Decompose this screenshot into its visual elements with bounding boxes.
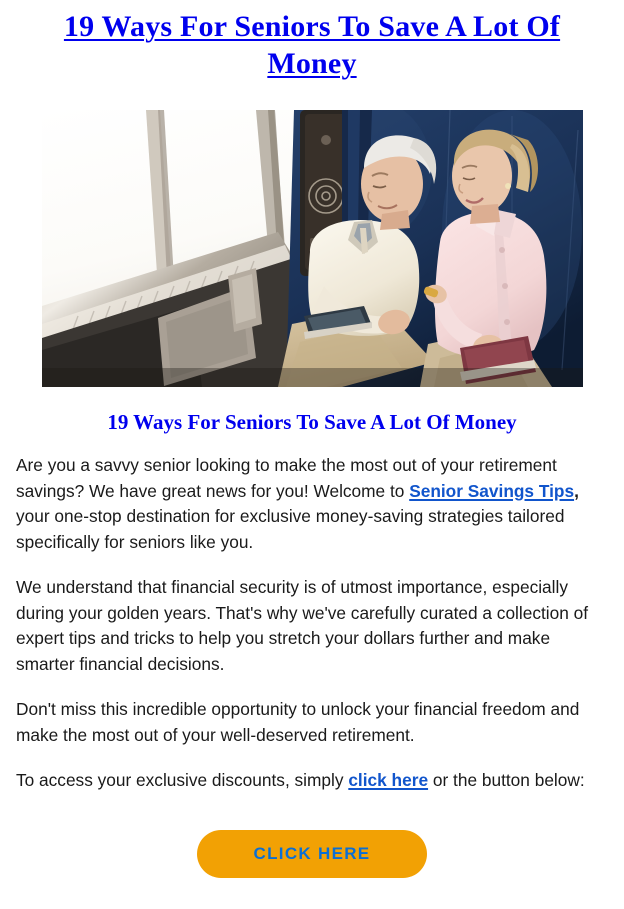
sub-heading: 19 Ways For Seniors To Save A Lot Of Mon… — [0, 387, 624, 435]
intro-text-after: your one-stop destination for exclusive … — [16, 506, 565, 552]
paragraph-security: We understand that financial security is… — [16, 575, 610, 677]
click-here-link[interactable]: click here — [348, 770, 428, 790]
train-seniors-photo — [42, 110, 583, 387]
senior-savings-tips-link[interactable]: Senior Savings Tips — [409, 481, 574, 501]
page-title[interactable]: 19 Ways For Seniors To Save A Lot Of Mon… — [0, 0, 624, 82]
paragraph-access: To access your exclusive discounts, simp… — [16, 768, 610, 794]
click-here-button[interactable]: CLICK HERE — [197, 830, 427, 878]
body-copy: Are you a savvy senior looking to make t… — [0, 453, 624, 794]
paragraph-intro: Are you a savvy senior looking to make t… — [16, 453, 610, 555]
paragraph-opportunity: Don't miss this incredible opportunity t… — [16, 697, 610, 748]
access-text-before: To access your exclusive discounts, simp… — [16, 770, 348, 790]
cta-container: CLICK HERE — [0, 830, 624, 878]
access-text-after: or the button below: — [428, 770, 585, 790]
intro-comma: , — [574, 481, 579, 501]
hero-illustration — [42, 110, 583, 387]
hero-image-container — [0, 110, 624, 387]
